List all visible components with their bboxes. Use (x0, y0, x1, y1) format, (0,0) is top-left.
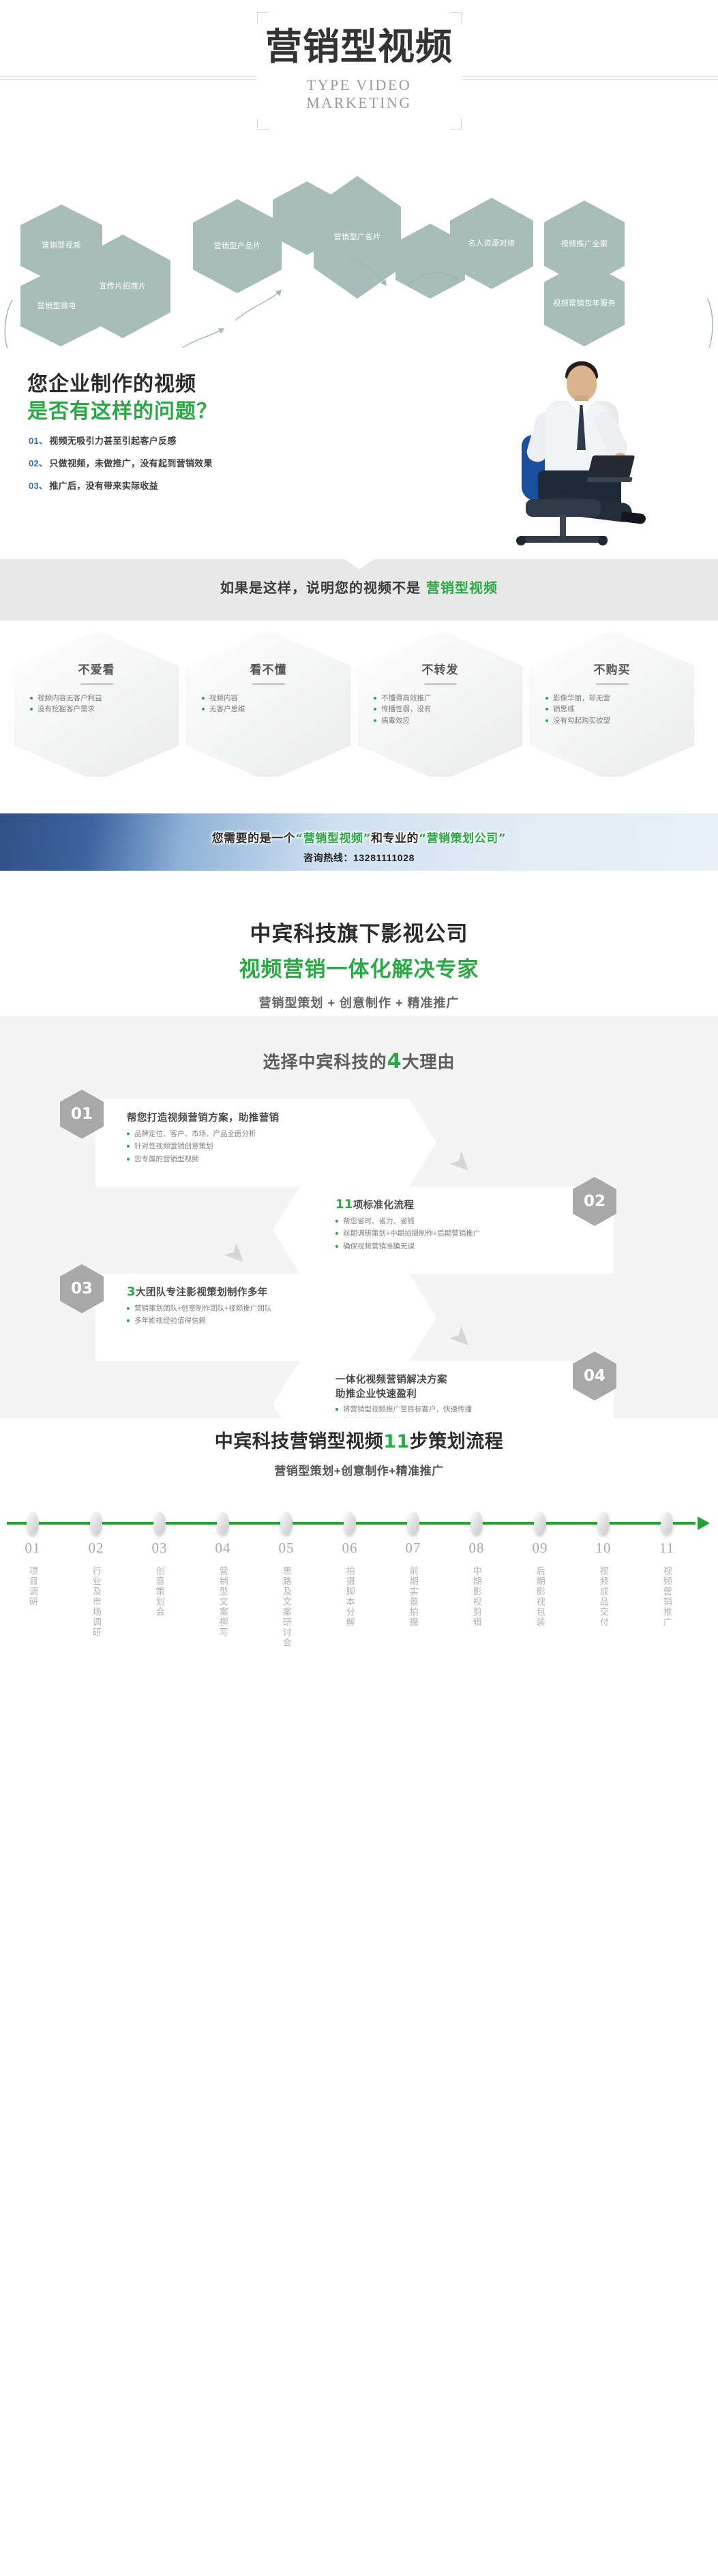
chair-pole (560, 514, 566, 539)
problem-card-bullet: 传播性弱，没有 (374, 704, 507, 715)
marketing-landing-page: 营销型视频 TYPE VIDEO MARKETING 营销型视频营销型微电影宣传… (0, 0, 718, 1758)
timeline-title-suffix: 步策划流程 (410, 1431, 504, 1452)
problem-card-bullet: 无客户思维 (202, 704, 335, 715)
title-underline (252, 683, 285, 685)
timeline-dot-01 (27, 1512, 39, 1535)
reason-card-02[interactable]: 11项标准化流程帮您省时、省力、省钱前期调研策划+中期拍摄制作+后期营销推广确保… (273, 1186, 614, 1274)
corner-bracket-icon (450, 118, 462, 130)
timeline-step-11[interactable]: 11视频营销推广 (643, 1540, 691, 1631)
timeline-step-10[interactable]: 10视频成品交付 (580, 1540, 627, 1631)
timeline-step-label: 中期影视剪辑 (469, 1566, 483, 1628)
timeline-dot-10 (597, 1512, 610, 1535)
company-section: 中宾科技旗下影视公司 视频营销一体化解决专家 营销型策划 + 创意制作 + 精准… (0, 893, 718, 1016)
reason-card-title: 11项标准化流程 (335, 1197, 414, 1212)
timeline-step-label: 拍摄脚本分解 (342, 1566, 357, 1628)
timeline-dot-07 (407, 1512, 419, 1535)
timeline-step-01[interactable]: 01项目调研 (9, 1540, 57, 1611)
hex-node-label: 广全案 (584, 239, 608, 250)
hex-node-label: 宣传片 (100, 282, 123, 292)
problem-card-list: 视频内容无客户利益没有挖掘客户需求 (30, 693, 163, 715)
chair-wheel (516, 536, 526, 545)
chair-wheel (598, 536, 608, 545)
hex-node-label: 名人资 (468, 239, 492, 249)
hex-node-label: 广告片 (357, 233, 381, 243)
hex-node-label: 营销型 (214, 241, 238, 252)
reason-title-text: 项标准化流程 (353, 1200, 414, 1211)
reason-title-accent: 11 (335, 1197, 353, 1212)
timeline-dot-05 (280, 1512, 293, 1535)
reason-card-title: 一体化视频营销解决方案助推企业快速盈利 (335, 1372, 447, 1401)
hex-node-label: 营销型 (42, 241, 65, 251)
timeline-step-label: 视频营销推广 (659, 1566, 674, 1628)
problem-item-text: 推广后，没有带来实际收益 (49, 481, 158, 491)
reasons-heading-suffix: 大理由 (402, 1052, 455, 1072)
chair-base (519, 536, 608, 543)
reason-flow-arrow-icon: ➤ (444, 1145, 479, 1181)
problem-heading-line2: 是否有这样的问题？ (27, 394, 218, 424)
reason-flow-arrow-icon: ➤ (444, 1320, 479, 1356)
problem-card-4[interactable]: 不购买影像华丽，却无营销思维没有勾起购买欲望 (525, 630, 699, 781)
hex-node-4[interactable]: 营销型产品片 (193, 199, 282, 293)
problem-card-bullet: 视频内容 (202, 693, 335, 704)
reason-card-01[interactable]: 帮您打造视频营销方案，助推营销品牌定位、客户、市场、产品全面分析针对性视频营销创… (95, 1099, 436, 1186)
timeline-subtitle: 营销型策划+创意制作+精准推广 (0, 1461, 718, 1478)
problem-card-3[interactable]: 不转发不懂得高效推广传播性弱，没有病毒效应 (353, 630, 527, 781)
hotline-text: 咨询热线：13281111028 (0, 851, 718, 865)
problem-card-title: 不转发 (374, 660, 507, 677)
corner-bracket-icon (257, 118, 269, 130)
gray-banner-text: 如果是这样，说明您的视频不是 营销型视频 (0, 577, 718, 597)
laptop-screen (587, 455, 635, 479)
hex-node-label: 招商片 (123, 282, 147, 292)
problem-card-bullet: 视频内容无客户利益 (30, 693, 163, 704)
problem-card-bullet: 没有勾起购买欲望 (545, 715, 678, 726)
timeline-step-number: 02 (72, 1540, 120, 1557)
reason-card-bullet: 多年影视经验值得信赖 (127, 1315, 271, 1327)
reasons-heading-prefix: 选择中宾科技的 (263, 1052, 387, 1072)
problem-card-list: 视频内容无客户思维 (202, 693, 335, 715)
problem-card-2[interactable]: 看不懂视频内容无客户思维 (181, 630, 355, 781)
problem-card-bullet: 不懂得高效推广 (374, 693, 507, 704)
reasons-heading-number: 4 (387, 1049, 402, 1073)
reason-card-bullet: 前期调研策划+中期拍摄制作+后期营销推广 (335, 1227, 480, 1240)
title-underline (596, 683, 629, 685)
problem-card-bullet: 病毒效应 (374, 715, 507, 726)
blue-banner-section: 您需要的是一个“营销型视频”和专业的“营销策划公司” 咨询热线：13281111… (0, 791, 718, 893)
timeline-step-07[interactable]: 07前期实景拍摄 (389, 1540, 437, 1631)
problem-card-bullet: 影像华丽，却无营 (545, 693, 678, 704)
reason-title-text: 一体化视频营销解决方案 (335, 1375, 447, 1386)
blue-banner-accent2: “营销策划公司” (419, 832, 506, 845)
reason-card-title: 帮您打造视频营销方案，助推营销 (127, 1110, 280, 1124)
problem-list-item: 02、只做视频，未做推广，没有起到营销效果 (29, 456, 213, 469)
problem-card-bullet: 销思维 (545, 704, 678, 715)
four-problems-section: 不爱看视频内容无客户利益没有挖掘客户需求看不懂视频内容无客户思维不转发不懂得高效… (0, 620, 718, 791)
problem-card-inner: 不爱看视频内容无客户利益没有挖掘客户需求 (30, 660, 163, 715)
timeline-step-04[interactable]: 04营销型文案撰写 (199, 1540, 247, 1641)
timeline-dot-09 (534, 1512, 546, 1535)
problem-heading-line1: 您企业制作的视频 (27, 367, 196, 397)
timeline-dot-06 (344, 1512, 356, 1535)
timeline-dot-03 (153, 1512, 166, 1535)
timeline-step-number: 10 (580, 1540, 627, 1557)
timeline-title-accent: 11 (383, 1431, 410, 1452)
hex-node-label: 视频营 (553, 299, 577, 309)
timeline-step-number: 05 (263, 1540, 310, 1557)
hex-node-label: 营销型 (38, 301, 61, 312)
timeline-step-label: 行业及市场调研 (89, 1566, 103, 1638)
timeline-dot-04 (217, 1512, 229, 1535)
hex-node-label: 销包年 (577, 299, 601, 309)
reason-card-bullet: 帮您省时、省力、省钱 (335, 1215, 480, 1227)
problem-card-inner: 不购买影像华丽，却无营销思维没有勾起购买欲望 (545, 660, 678, 726)
timeline-arrow-icon (698, 1516, 710, 1530)
problem-item-text: 视频无吸引力甚至引起客户反感 (49, 436, 176, 446)
timeline-step-09[interactable]: 09后期影视包装 (516, 1540, 564, 1631)
reason-flow-arrow-icon: ➤ (219, 1237, 254, 1272)
problem-card-bullet: 没有挖掘客户需求 (30, 704, 163, 715)
reason-card-bullet: 品牌定位、客户、市场、产品全面分析 (127, 1128, 256, 1140)
problem-list-item: 03、推广后，没有带来实际收益 (29, 479, 213, 492)
timeline-step-number: 09 (516, 1540, 564, 1557)
reasons-heading: 选择中宾科技的4大理由 (0, 1016, 718, 1073)
hex-node-label: 视频推 (561, 239, 585, 250)
timeline-step-label: 前期实景拍摄 (406, 1566, 420, 1628)
problem-card-list: 影像华丽，却无营销思维没有勾起购买欲望 (545, 693, 678, 726)
timeline-step-label: 营销型文案撰写 (215, 1566, 230, 1638)
gray-banner-accent: 营销型视频 (426, 580, 498, 596)
gray-banner-section: 如果是这样，说明您的视频不是 营销型视频 (0, 559, 718, 620)
reason-title-text: 帮您打造视频营销方案，助推营销 (127, 1113, 280, 1124)
blue-banner-part2: 和专业的 (371, 832, 419, 845)
hex-node-10[interactable]: 视频营销包年服务 (544, 260, 625, 346)
shoe (620, 511, 646, 524)
hero-title-en: TYPE VIDEO MARKETING (257, 76, 462, 112)
blue-banner-part1: 您需要的是一个 (212, 832, 296, 845)
timeline-step-06[interactable]: 06拍摄脚本分解 (326, 1540, 374, 1631)
timeline-step-03[interactable]: 03创意策划会 (136, 1540, 183, 1621)
timeline-section: 中宾科技营销型视频11步策划流程 营销型策划+创意制作+精准推广 01项目调研0… (0, 1418, 718, 1758)
hex-node-label: 产品片 (237, 241, 261, 252)
reason-title-accent: 3 (127, 1285, 136, 1299)
company-line3: 营销型策划 + 创意制作 + 精准推广 (0, 993, 718, 1011)
problem-card-inner: 不转发不懂得高效推广传播性弱，没有病毒效应 (374, 660, 507, 726)
timeline-dot-08 (470, 1512, 483, 1535)
problem-card-list: 不懂得高效推广传播性弱，没有病毒效应 (374, 693, 507, 726)
hex-node-label: 视频 (65, 241, 81, 251)
corner-bracket-icon (257, 12, 269, 24)
title-underline (80, 683, 113, 685)
hex-node-label: 源对接 (492, 239, 515, 249)
hero-title-box: 营销型视频 TYPE VIDEO MARKETING (257, 12, 462, 130)
problem-list-item: 01、视频无吸引力甚至引起客户反感 (29, 434, 213, 447)
reasons-section: 选择中宾科技的4大理由 帮您打造视频营销方案，助推营销品牌定位、客户、市场、产品… (0, 1016, 718, 1418)
timeline-step-05[interactable]: 05思路及文案研讨会 (263, 1540, 310, 1651)
problem-item-number: 01、 (29, 436, 48, 446)
hero-title-section: 营销型视频 TYPE VIDEO MARKETING (0, 0, 718, 157)
timeline-step-number: 06 (326, 1540, 374, 1557)
hex-node-label: 服务 (600, 299, 616, 309)
problem-item-number: 03、 (29, 481, 48, 491)
problem-card-title: 看不懂 (202, 660, 335, 677)
reason-card-title: 3大团队专注影视策划制作多年 (127, 1285, 268, 1299)
timeline-title-prefix: 中宾科技营销型视频 (215, 1431, 384, 1452)
timeline-step-label: 创意策划会 (152, 1566, 166, 1617)
problem-list: 01、视频无吸引力甚至引起客户反感02、只做视频，未做推广，没有起到营销效果03… (29, 434, 213, 501)
problem-card-title: 不购买 (545, 660, 678, 677)
timeline-step-number: 04 (199, 1540, 247, 1557)
timeline-step-number: 01 (9, 1540, 57, 1557)
reason-card-list: 帮您省时、省力、省钱前期调研策划+中期拍摄制作+后期营销推广确保视频营销准确无误 (335, 1215, 480, 1253)
reason-card-03[interactable]: 3大团队专注影视策划制作多年营销策划团队+创意制作团队+视频推广团队多年影视经验… (95, 1274, 436, 1361)
timeline-step-label: 后期影视包装 (533, 1566, 547, 1628)
company-line1: 中宾科技旗下影视公司 (0, 893, 718, 947)
timeline-step-label: 视频成品交付 (596, 1566, 610, 1628)
company-line2: 视频营销一体化解决专家 (0, 952, 718, 983)
timeline-dot-02 (90, 1512, 102, 1535)
reason-card-list: 品牌定位、客户、市场、产品全面分析针对性视频营销创意策划您专属的营销型视频 (127, 1128, 256, 1165)
timeline-step-number: 07 (389, 1540, 437, 1557)
blue-banner-accent1: “营销型视频” (295, 832, 371, 845)
timeline-dot-11 (661, 1512, 673, 1535)
timeline-step-02[interactable]: 02行业及市场调研 (72, 1540, 120, 1641)
reason-card-bullet: 针对性视频营销创意策划 (127, 1140, 256, 1152)
timeline-step-label: 思路及文案研讨会 (279, 1566, 293, 1648)
reason-card-bullet: 您专属的营销型视频 (127, 1153, 256, 1165)
timeline-step-08[interactable]: 08中期影视剪辑 (453, 1540, 500, 1631)
gray-banner-prefix: 如果是这样，说明您的视频不是 (220, 580, 426, 596)
problem-section: 您企业制作的视频 是否有这样的问题？ 01、视频无吸引力甚至引起客户反感02、只… (0, 348, 718, 559)
reason-title-text: 大团队专注影视策划制作多年 (136, 1287, 268, 1298)
notch-top-icon (344, 559, 374, 569)
problem-card-1[interactable]: 不爱看视频内容无客户利益没有挖掘客户需求 (10, 630, 183, 781)
reason-title-text: 助推企业快速盈利 (335, 1389, 417, 1400)
problem-item-number: 02、 (29, 458, 48, 468)
timeline-step-label: 项目调研 (25, 1566, 40, 1607)
timeline-step-number: 03 (136, 1540, 183, 1557)
corner-bracket-icon (450, 12, 462, 24)
laptop-base (586, 477, 633, 482)
businessman-photo (481, 353, 699, 551)
hex-map-section: 营销型视频营销型微电影宣传片招商片营销型产品片营销型广告片名人资源对接视频推广全… (0, 157, 718, 348)
hero-title-cn: 营销型视频 (257, 29, 462, 65)
reason-card-list: 营销策划团队+创意制作团队+视频推广团队多年影视经验值得信赖 (127, 1302, 271, 1328)
timeline-step-number: 11 (643, 1540, 691, 1557)
timeline-title: 中宾科技营销型视频11步策划流程 (0, 1418, 718, 1453)
reason-card-bullet: 将营销型视频推广至目标客户，快速传播 (335, 1403, 472, 1416)
reason-card-bullet: 营销策划团队+创意制作团队+视频推广团队 (127, 1302, 271, 1315)
blue-banner-line1: 您需要的是一个“营销型视频”和专业的“营销策划公司” (0, 828, 718, 845)
problem-card-title: 不爱看 (30, 660, 163, 677)
title-underline (424, 683, 457, 685)
problem-item-text: 只做视频，未做推广，没有起到营销效果 (49, 458, 212, 468)
reason-card-bullet: 确保视频营销准确无误 (335, 1240, 480, 1253)
timeline-step-number: 08 (453, 1540, 500, 1557)
hex-node-label: 营销型 (334, 233, 358, 243)
problem-card-inner: 看不懂视频内容无客户思维 (202, 660, 335, 715)
